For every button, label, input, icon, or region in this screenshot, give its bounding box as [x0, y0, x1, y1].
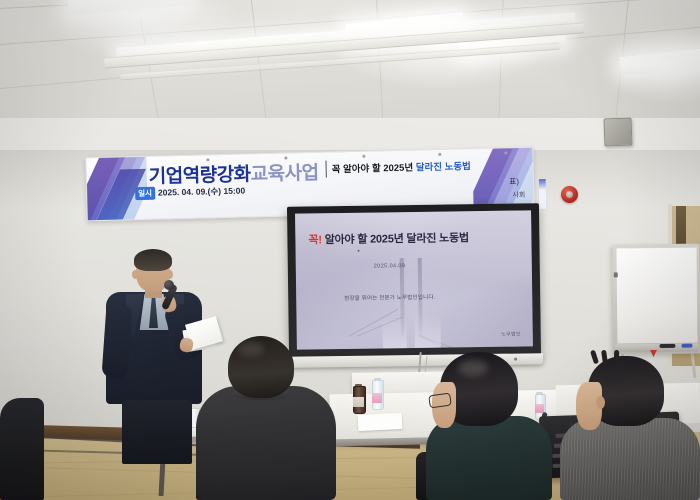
banner-title-faded: 교육사업: [250, 163, 318, 186]
whiteboard-tray: [615, 344, 698, 353]
marker-blue: [681, 344, 692, 348]
slide-date: 2025.04.09: [374, 263, 406, 269]
whiteboard-hinge: [614, 272, 618, 277]
presenter-ear-left: [132, 270, 138, 279]
marker-black: [659, 344, 675, 348]
slide-logo: 노무법인: [501, 331, 521, 338]
presenter-arm-left: [101, 303, 132, 379]
wall-speaker-box: [604, 118, 633, 147]
whiteboard-surface: [616, 248, 697, 344]
dark-bottle-center: [353, 384, 364, 414]
banner-divider: [325, 161, 326, 178]
attendee-with-glasses: [420, 352, 552, 500]
banner-subtitle-highlight: 달라진 노동법: [416, 161, 471, 173]
attendee-grey-jacket-body: [560, 418, 700, 500]
slide-subtitle: 현장을 뛰어는 전문가 노무법인입니다.: [344, 293, 435, 302]
ceiling-light-4: [619, 47, 700, 75]
fire-alarm-bell-icon: [561, 186, 578, 203]
attendee-center: [196, 336, 336, 500]
banner-chevron-left-icon: [85, 147, 148, 221]
presenter-ear-right: [167, 270, 173, 279]
slide-title-accent: 꼭!: [308, 234, 322, 246]
banner-date-row: 일시2025. 04. 09.(수) 15:00: [135, 185, 245, 201]
microphone-head-icon: [164, 280, 174, 290]
presenter-hair: [134, 249, 172, 271]
slide-title: 꼭! 알아야 할 2025년 달라진 노동법: [308, 229, 469, 247]
wall-sign: [538, 178, 548, 210]
presentation-slide: 꼭! 알아야 할 2025년 달라진 노동법 2025.04.09 현장을 뛰어…: [295, 210, 533, 349]
ceiling-light-1: [67, 0, 190, 15]
attendee-left-edge: [0, 398, 44, 500]
attendee-glasses-hair-highlight: [458, 360, 488, 376]
banner-date-tag: 일시: [135, 187, 155, 200]
water-bottle-center: [372, 378, 382, 410]
attendee-center-jacket: [196, 386, 336, 500]
banner-right-text: 표): [509, 176, 519, 187]
banner-date-text: 2025. 04. 09.(수) 15:00: [158, 186, 245, 198]
presenter-trousers: [122, 400, 192, 464]
whiteboard: [612, 244, 700, 355]
banner-subtitle-text: 꼭 알아야 할 2025년: [332, 163, 416, 176]
photo-scene: 기업역량강화교육사업 꼭 알아야 할 2025년 달라진 노동법 일시2025.…: [0, 0, 700, 500]
slide-bullet-dot: [358, 250, 360, 252]
banner-subtitle: 꼭 알아야 할 2025년 달라진 노동법: [331, 158, 471, 175]
alarm-striker: [566, 191, 573, 198]
attendee-grey-ear: [596, 396, 605, 409]
attendee-grey-jacket: [560, 356, 700, 500]
slide-title-rest: 알아야 할 2025년 달라진 노동법: [322, 232, 469, 246]
banner-right-text-secondary: 사회: [512, 190, 525, 200]
attendee-glasses-shirt: [426, 416, 552, 500]
handout-papers-center: [358, 413, 403, 431]
attendee-center-hair-highlight: [238, 342, 264, 356]
